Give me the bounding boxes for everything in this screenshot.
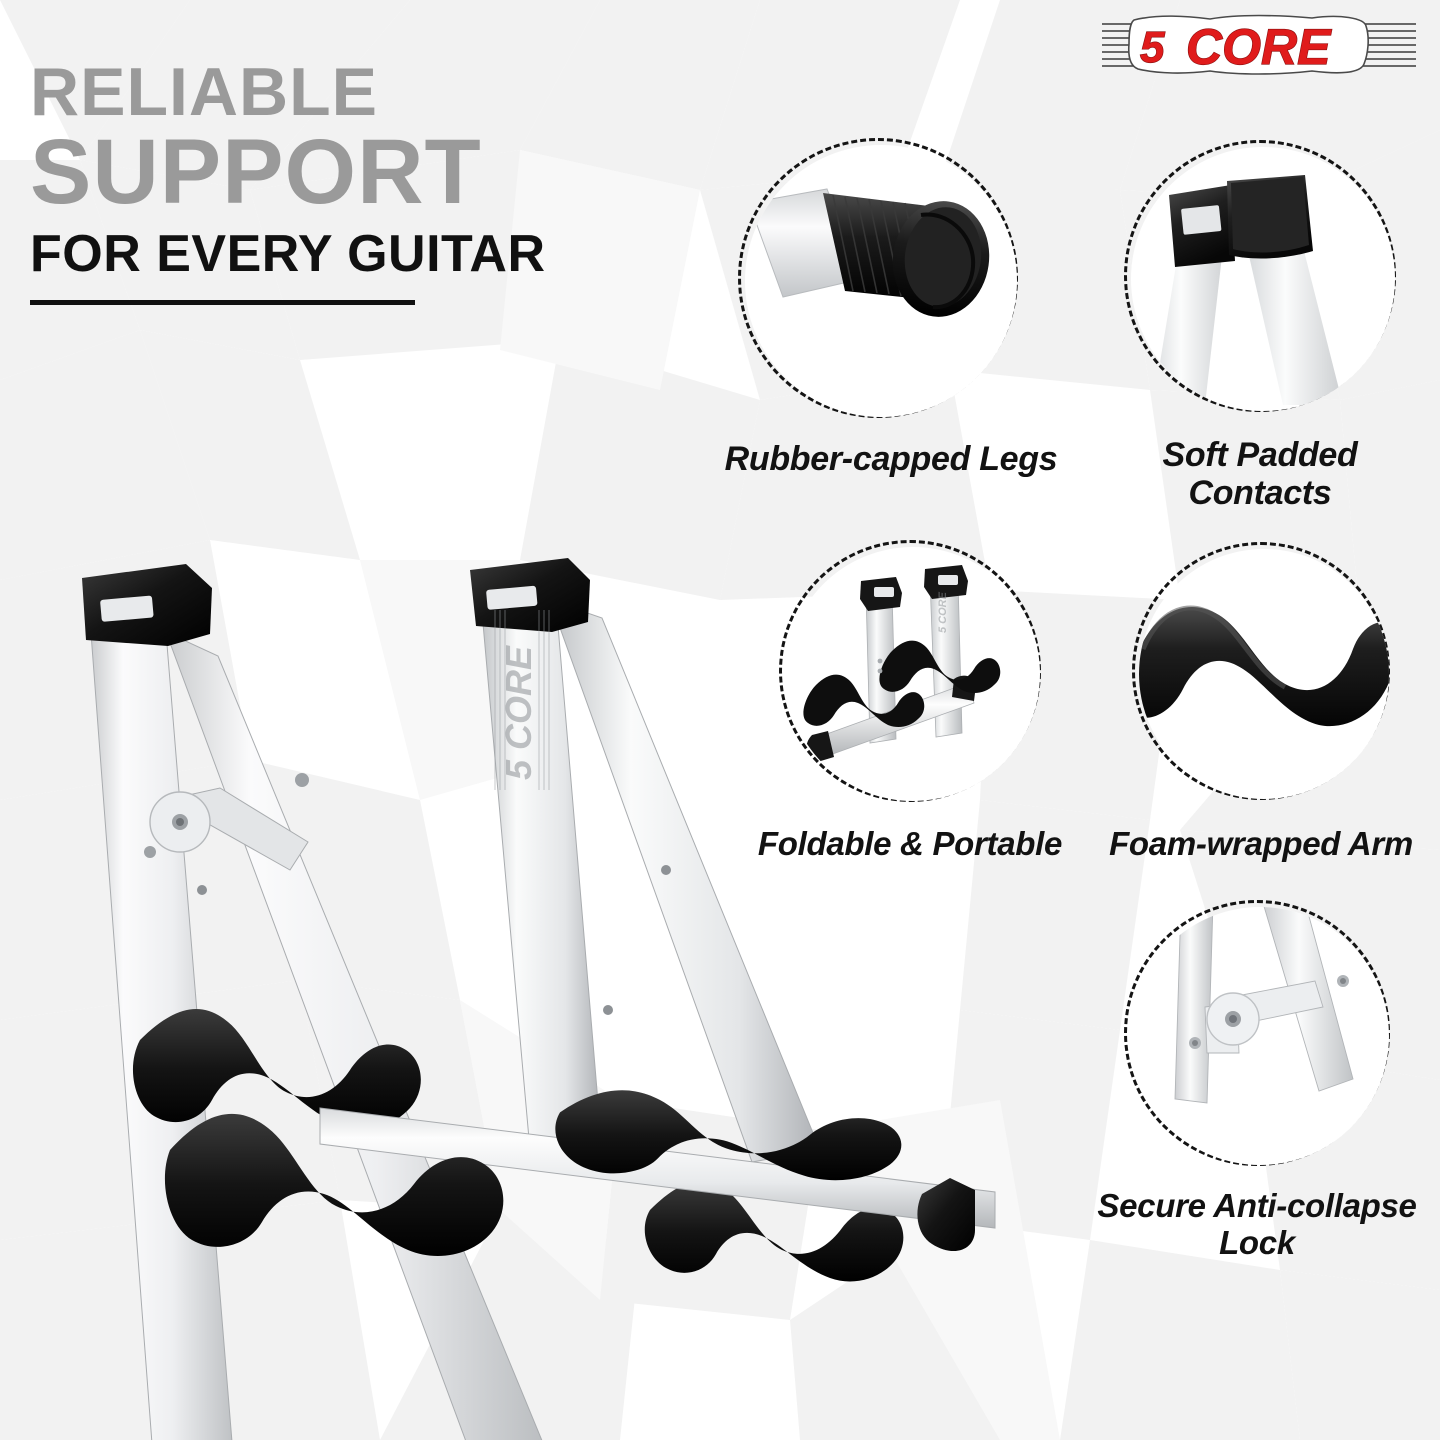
rubber-cap-closeup-image <box>741 141 1021 421</box>
feature-label: Foam-wrapped Arm <box>1100 826 1422 863</box>
dashed-circle-frame <box>1124 140 1396 412</box>
foam-arm-closeup-image <box>1135 545 1393 803</box>
feature-callout-foam-wrapped-arm: Foam-wrapped Arm <box>1100 542 1422 863</box>
svg-text:5: 5 <box>1140 23 1165 72</box>
hinge-lock-closeup-image <box>1127 903 1393 1169</box>
headline-line-1: RELIABLE <box>30 60 546 125</box>
dashed-circle-frame <box>1132 542 1390 800</box>
foam-arm-front-upper <box>133 1009 421 1129</box>
headline-block: RELIABLE SUPPORT FOR EVERY GUITAR <box>30 60 546 305</box>
dashed-circle-frame <box>738 138 1018 418</box>
brand-logo-5core: 5 5 CORE CORE <box>1098 12 1420 78</box>
brand-logo-word: CORE <box>1186 19 1332 75</box>
folded-stand-closeup-image: 5 CORE <box>782 543 1044 805</box>
headline-line-3: FOR EVERY GUITAR <box>30 227 546 282</box>
feature-callout-secure-anti-collapse-lock: Secure Anti-collapse Lock <box>1082 900 1432 1262</box>
dashed-circle-frame: 5 CORE <box>779 540 1041 802</box>
feature-callout-soft-padded-contacts: Soft Padded Contacts <box>1092 140 1428 512</box>
feature-callout-foldable-portable: 5 CORE Foldable & Portable <box>752 540 1068 863</box>
headline-line-2: SUPPORT <box>30 127 546 217</box>
feature-label: Soft Padded Contacts <box>1092 436 1428 512</box>
headline-divider-rule <box>30 300 415 305</box>
feature-label: Rubber-capped Legs <box>706 440 1076 478</box>
feature-callout-rubber-capped-legs: Rubber-capped Legs <box>706 138 1076 478</box>
dashed-circle-frame <box>1124 900 1390 1166</box>
padded-top-cap-closeup-image <box>1127 143 1399 415</box>
svg-text:5 CORE: 5 CORE <box>937 591 949 633</box>
feature-label: Secure Anti-collapse Lock <box>1082 1188 1432 1262</box>
feature-label: Foldable & Portable <box>752 826 1068 863</box>
svg-text:5 CORE: 5 CORE <box>498 645 539 780</box>
